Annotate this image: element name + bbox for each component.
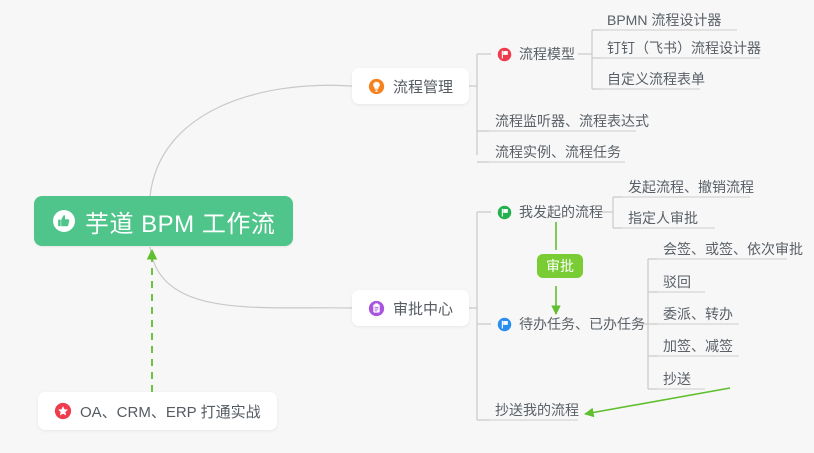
node-approval-center-label: 审批中心	[393, 298, 453, 319]
node-start-cancel-process-label: 发起流程、撤销流程	[628, 177, 754, 197]
flag-icon	[497, 317, 512, 332]
node-process-instance-task-label: 流程实例、流程任务	[495, 142, 621, 162]
node-process-model[interactable]: 流程模型	[491, 39, 581, 69]
node-bpmn-designer-label: BPMN 流程设计器	[607, 10, 721, 30]
node-assignee-approval[interactable]: 指定人审批	[622, 202, 704, 232]
node-todo-done-tasks-label: 待办任务、已办任务	[519, 314, 645, 334]
mindmap-canvas: 芋道 BPM 工作流 流程管理 流程模型 BPMN 流程设计器 钉	[0, 0, 814, 453]
node-oa-crm-erp-integration-label: OA、CRM、ERP 打通实战	[80, 401, 261, 422]
node-custom-process-form-label: 自定义流程表单	[607, 69, 705, 89]
node-cc-label: 抄送	[663, 369, 691, 389]
node-countersign-or-sequential[interactable]: 会签、或签、依次审批	[657, 233, 809, 263]
node-process-listener-expression[interactable]: 流程监听器、流程表达式	[489, 105, 655, 135]
root-node-label: 芋道 BPM 工作流	[85, 204, 275, 239]
node-approval-center[interactable]: 审批中心	[352, 290, 469, 326]
node-start-cancel-process[interactable]: 发起流程、撤销流程	[622, 171, 760, 201]
node-todo-done-tasks[interactable]: 待办任务、已办任务	[491, 309, 651, 339]
node-my-started-process[interactable]: 我发起的流程	[491, 197, 609, 227]
thumbs-up-icon	[52, 209, 76, 233]
clipboard-icon	[368, 300, 385, 317]
node-process-management[interactable]: 流程管理	[352, 68, 469, 104]
node-assignee-approval-label: 指定人审批	[628, 208, 698, 228]
lightbulb-icon	[368, 78, 385, 95]
node-add-remove-sign-label: 加签、减签	[663, 336, 733, 356]
node-countersign-or-sequential-label: 会签、或签、依次审批	[663, 239, 803, 259]
star-icon	[54, 402, 72, 420]
node-reject-label: 驳回	[663, 272, 691, 292]
root-node[interactable]: 芋道 BPM 工作流	[34, 196, 293, 246]
edge-tag-approval-label: 审批	[546, 258, 574, 274]
flag-icon	[497, 205, 512, 220]
node-add-remove-sign[interactable]: 加签、减签	[657, 330, 739, 360]
node-dingtalk-feishu-designer-label: 钉钉（飞书）流程设计器	[607, 38, 761, 58]
node-cc-to-me-process-label: 抄送我的流程	[495, 400, 579, 420]
node-cc[interactable]: 抄送	[657, 363, 697, 393]
flag-icon	[497, 47, 512, 62]
node-delegate-transfer[interactable]: 委派、转办	[657, 298, 739, 328]
node-dingtalk-feishu-designer[interactable]: 钉钉（飞书）流程设计器	[601, 32, 767, 62]
node-process-model-label: 流程模型	[519, 44, 575, 64]
node-process-management-label: 流程管理	[393, 76, 453, 97]
node-process-instance-task[interactable]: 流程实例、流程任务	[489, 136, 627, 166]
node-my-started-process-label: 我发起的流程	[519, 202, 603, 222]
node-reject[interactable]: 驳回	[657, 266, 697, 296]
node-process-listener-expression-label: 流程监听器、流程表达式	[495, 111, 649, 131]
node-oa-crm-erp-integration[interactable]: OA、CRM、ERP 打通实战	[38, 392, 277, 430]
edge-tag-approval[interactable]: 审批	[537, 254, 583, 278]
node-bpmn-designer[interactable]: BPMN 流程设计器	[601, 4, 727, 34]
node-custom-process-form[interactable]: 自定义流程表单	[601, 63, 711, 93]
node-cc-to-me-process[interactable]: 抄送我的流程	[489, 394, 585, 424]
node-delegate-transfer-label: 委派、转办	[663, 304, 733, 324]
